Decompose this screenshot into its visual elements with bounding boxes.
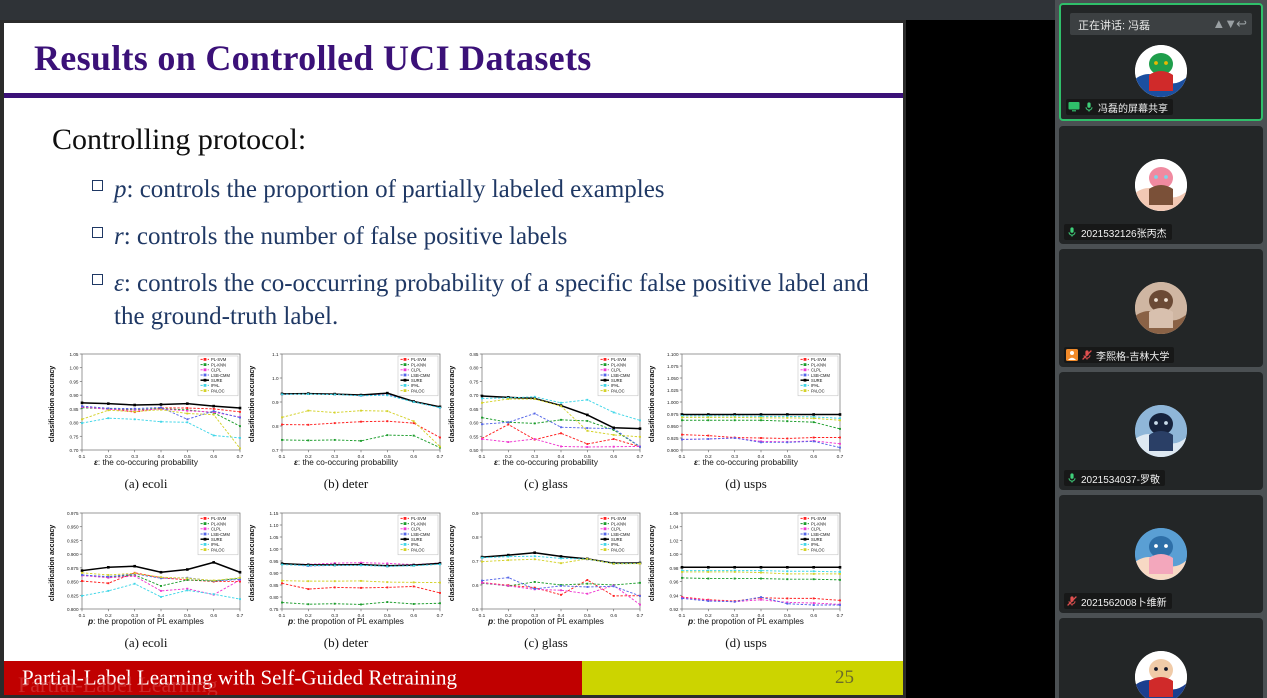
participant-tile[interactable]: 正在讲话: 冯磊▲▼↩冯磊的屏幕共享 bbox=[1059, 3, 1263, 121]
svg-text:0.900: 0.900 bbox=[67, 552, 79, 557]
svg-text:0.8: 0.8 bbox=[272, 424, 279, 429]
svg-text:1.075: 1.075 bbox=[667, 364, 679, 369]
avatar bbox=[1135, 282, 1187, 334]
participant-name: 2021532126张丙杰 bbox=[1081, 225, 1167, 240]
page-title: Results on Controlled UCI Datasets bbox=[34, 37, 884, 79]
svg-text:0.75: 0.75 bbox=[470, 379, 479, 384]
svg-text:0.9: 0.9 bbox=[472, 511, 479, 516]
screen-share-icon bbox=[1068, 101, 1080, 113]
figure-cell-eps-usps: classification accuracy0.9000.9250.9500.… bbox=[646, 348, 846, 507]
figure-cell-p-glass: classification accuracy0.50.60.70.80.90.… bbox=[446, 507, 646, 666]
participant-tile[interactable]: 李熙格-吉林大学 bbox=[1059, 249, 1263, 367]
svg-text:0.95: 0.95 bbox=[70, 379, 79, 384]
svg-text:0.92: 0.92 bbox=[670, 607, 679, 612]
screen-root: Results on Controlled UCI Datasets Contr… bbox=[0, 0, 1267, 698]
raise-hand-icon bbox=[1066, 349, 1078, 361]
svg-text:1.06: 1.06 bbox=[670, 511, 679, 516]
svg-text:0.55: 0.55 bbox=[470, 434, 479, 439]
square-bullet-icon bbox=[92, 173, 114, 193]
chart-xlabel: ε: the co-occuring probability bbox=[446, 458, 646, 467]
svg-text:1.04: 1.04 bbox=[670, 525, 679, 530]
svg-text:0.6: 0.6 bbox=[472, 583, 479, 588]
participant-name: 李熙格-吉林大学 bbox=[1096, 348, 1169, 363]
svg-text:0.96: 0.96 bbox=[670, 580, 679, 585]
svg-text:0.80: 0.80 bbox=[270, 595, 279, 600]
speaker-view-controls-icon[interactable]: ▲▼↩ bbox=[1212, 16, 1246, 32]
participant-name-bar: 2021532126张丙杰 bbox=[1064, 224, 1172, 240]
svg-text:1.025: 1.025 bbox=[667, 388, 679, 393]
bullet-body: : controls the number of false positive … bbox=[124, 223, 568, 250]
svg-text:0.7: 0.7 bbox=[472, 559, 479, 564]
svg-text:1.10: 1.10 bbox=[270, 523, 279, 528]
svg-text:0.8: 0.8 bbox=[472, 535, 479, 540]
mic-on-icon bbox=[1066, 472, 1078, 484]
participant-tile[interactable]: 2021532126张丙杰 bbox=[1059, 126, 1263, 244]
figure-cell-eps-deter: classification accuracy0.70.80.91.01.10.… bbox=[246, 348, 446, 507]
participant-name-bar: 2021534037-罗敬 bbox=[1064, 470, 1165, 486]
svg-text:0.875: 0.875 bbox=[67, 566, 79, 571]
participant-tile[interactable]: 2021562008卜维新 bbox=[1059, 495, 1263, 613]
chart-caption: (d) usps bbox=[646, 635, 846, 651]
svg-text:0.70: 0.70 bbox=[70, 448, 79, 453]
participant-name: 2021562008卜维新 bbox=[1081, 594, 1167, 609]
svg-text:0.85: 0.85 bbox=[470, 352, 479, 357]
chart-eps-ecoli: classification accuracy0.700.750.800.850… bbox=[46, 348, 246, 476]
shared-screen-region: Results on Controlled UCI Datasets Contr… bbox=[0, 0, 1055, 698]
chart-p-glass: classification accuracy0.50.60.70.80.90.… bbox=[446, 507, 646, 635]
chart-xlabel: p: the propotion of PL examples bbox=[46, 617, 246, 626]
figure-row: classification accuracy0.8000.8250.8500.… bbox=[46, 507, 846, 666]
svg-text:0.7: 0.7 bbox=[272, 448, 279, 453]
svg-text:0.800: 0.800 bbox=[67, 607, 79, 612]
results-figure-grid: classification accuracy0.700.750.800.850… bbox=[46, 348, 846, 666]
svg-text:PALOC: PALOC bbox=[411, 388, 425, 393]
svg-text:0.850: 0.850 bbox=[67, 580, 79, 585]
svg-text:0.95: 0.95 bbox=[270, 559, 279, 564]
chart-p-deter: classification accuracy0.750.800.850.900… bbox=[246, 507, 446, 635]
figure-cell-p-deter: classification accuracy0.750.800.850.900… bbox=[246, 507, 446, 666]
chart-xlabel: ε: the co-occuring probability bbox=[46, 458, 246, 467]
chart-caption: (a) ecoli bbox=[46, 635, 246, 651]
svg-text:1.000: 1.000 bbox=[667, 400, 679, 405]
bullet-body: : controls the proportion of partially l… bbox=[127, 176, 665, 203]
svg-text:1.100: 1.100 bbox=[667, 352, 679, 357]
participant-name: 冯磊的屏幕共享 bbox=[1098, 100, 1168, 115]
svg-text:PALOC: PALOC bbox=[411, 547, 425, 552]
svg-text:0.85: 0.85 bbox=[70, 407, 79, 412]
shared-screen-topbar bbox=[0, 0, 1055, 20]
bullet-text: r: controls the number of false positive… bbox=[114, 220, 567, 253]
avatar bbox=[1135, 528, 1187, 580]
svg-text:1.00: 1.00 bbox=[270, 547, 279, 552]
svg-text:0.50: 0.50 bbox=[470, 448, 479, 453]
participant-name-bar: 2021562008卜维新 bbox=[1064, 593, 1172, 609]
svg-text:PALOC: PALOC bbox=[811, 547, 825, 552]
avatar bbox=[1135, 405, 1187, 457]
participant-tile[interactable]: 2021534037-罗敬 bbox=[1059, 372, 1263, 490]
chart-caption: (c) glass bbox=[446, 476, 646, 492]
chart-xlabel: ε: the co-occuring probability bbox=[646, 458, 846, 467]
svg-text:1.15: 1.15 bbox=[270, 511, 279, 516]
page-number: 25 bbox=[835, 667, 854, 689]
figure-cell-p-usps: classification accuracy0.920.940.960.981… bbox=[646, 507, 846, 666]
chart-eps-usps: classification accuracy0.9000.9250.9500.… bbox=[646, 348, 846, 476]
participant-name-bar: 冯磊的屏幕共享 bbox=[1066, 99, 1173, 115]
svg-text:0.900: 0.900 bbox=[667, 448, 679, 453]
list-item: ε: controls the co-occurring probability… bbox=[92, 267, 892, 333]
square-bullet-icon bbox=[92, 220, 114, 240]
svg-text:0.90: 0.90 bbox=[270, 571, 279, 576]
participant-name: 2021534037-罗敬 bbox=[1081, 471, 1160, 486]
title-divider bbox=[4, 93, 906, 98]
svg-text:0.94: 0.94 bbox=[670, 593, 679, 598]
chart-eps-deter: classification accuracy0.70.80.91.01.10.… bbox=[246, 348, 446, 476]
protocol-heading: Controlling protocol: bbox=[52, 123, 306, 157]
svg-text:0.60: 0.60 bbox=[470, 421, 479, 426]
svg-text:0.925: 0.925 bbox=[667, 436, 679, 441]
svg-text:PALOC: PALOC bbox=[811, 388, 825, 393]
mic-muted-icon bbox=[1081, 349, 1093, 361]
figure-cell-eps-ecoli: classification accuracy0.700.750.800.850… bbox=[46, 348, 246, 507]
avatar bbox=[1135, 159, 1187, 211]
chart-xlabel: p: the propotion of PL examples bbox=[446, 617, 646, 626]
svg-text:0.950: 0.950 bbox=[667, 424, 679, 429]
svg-text:0.65: 0.65 bbox=[470, 407, 479, 412]
chart-caption: (a) ecoli bbox=[46, 476, 246, 492]
svg-text:0.98: 0.98 bbox=[670, 566, 679, 571]
svg-text:PALOC: PALOC bbox=[611, 547, 625, 552]
figure-row: classification accuracy0.700.750.800.850… bbox=[46, 348, 846, 507]
svg-text:0.75: 0.75 bbox=[70, 434, 79, 439]
svg-text:0.75: 0.75 bbox=[270, 607, 279, 612]
svg-text:1.05: 1.05 bbox=[70, 352, 79, 357]
bullet-list: p: controls the proportion of partially … bbox=[92, 173, 892, 347]
svg-text:1.05: 1.05 bbox=[270, 535, 279, 540]
svg-text:1.0: 1.0 bbox=[272, 376, 279, 381]
svg-text:1.00: 1.00 bbox=[70, 366, 79, 371]
list-item: r: controls the number of false positive… bbox=[92, 220, 892, 253]
active-speaker-label: 正在讲话: 冯磊 bbox=[1078, 17, 1150, 33]
svg-text:0.90: 0.90 bbox=[70, 393, 79, 398]
svg-text:1.00: 1.00 bbox=[670, 552, 679, 557]
figure-cell-p-ecoli: classification accuracy0.8000.8250.8500.… bbox=[46, 507, 246, 666]
svg-text:1.1: 1.1 bbox=[272, 352, 279, 357]
chart-caption: (b) deter bbox=[246, 476, 446, 492]
chart-p-ecoli: classification accuracy0.8000.8250.8500.… bbox=[46, 507, 246, 635]
chart-xlabel: ε: the co-occuring probability bbox=[246, 458, 446, 467]
bullet-text: p: controls the proportion of partially … bbox=[114, 173, 665, 206]
avatar bbox=[1135, 45, 1187, 97]
svg-text:1.02: 1.02 bbox=[670, 538, 679, 543]
svg-text:0.925: 0.925 bbox=[67, 538, 79, 543]
bullet-body: : controls the co-occurring probability … bbox=[114, 270, 869, 330]
participant-name-bar: 李熙格-吉林大学 bbox=[1064, 347, 1174, 363]
square-bullet-icon bbox=[92, 267, 114, 287]
chart-caption: (c) glass bbox=[446, 635, 646, 651]
svg-text:0.70: 0.70 bbox=[470, 393, 479, 398]
svg-text:0.85: 0.85 bbox=[270, 583, 279, 588]
watermark-text: Partial-Label Learning bbox=[18, 672, 218, 698]
svg-text:1.050: 1.050 bbox=[667, 376, 679, 381]
footer-page-bar: 25 bbox=[582, 661, 906, 695]
figure-cell-eps-glass: classification accuracy0.500.550.600.650… bbox=[446, 348, 646, 507]
svg-text:PALOC: PALOC bbox=[611, 388, 625, 393]
chart-caption: (d) usps bbox=[646, 476, 846, 492]
bullet-symbol: r bbox=[114, 223, 124, 250]
svg-text:0.975: 0.975 bbox=[667, 412, 679, 417]
chart-xlabel: p: the propotion of PL examples bbox=[246, 617, 446, 626]
svg-text:0.825: 0.825 bbox=[67, 593, 79, 598]
svg-text:PALOC: PALOC bbox=[211, 547, 225, 552]
active-speaker-banner: 正在讲话: 冯磊▲▼↩ bbox=[1070, 13, 1252, 35]
bullet-symbol: p bbox=[114, 176, 127, 203]
mic-on-icon bbox=[1083, 101, 1095, 113]
list-item: p: controls the proportion of partially … bbox=[92, 173, 892, 206]
svg-text:0.5: 0.5 bbox=[472, 607, 479, 612]
mic-muted-icon bbox=[1066, 595, 1078, 607]
svg-text:0.80: 0.80 bbox=[470, 366, 479, 371]
mic-on-icon bbox=[1066, 226, 1078, 238]
bullet-symbol: ε bbox=[114, 270, 124, 297]
chart-caption: (b) deter bbox=[246, 635, 446, 651]
bullet-text: ε: controls the co-occurring probability… bbox=[114, 267, 892, 333]
presentation-slide: Results on Controlled UCI Datasets Contr… bbox=[0, 20, 906, 698]
avatar bbox=[1135, 651, 1187, 698]
svg-text:0.975: 0.975 bbox=[67, 511, 79, 516]
svg-text:0.9: 0.9 bbox=[272, 400, 279, 405]
chart-p-usps: classification accuracy0.920.940.960.981… bbox=[646, 507, 846, 635]
svg-text:0.950: 0.950 bbox=[67, 525, 79, 530]
svg-text:0.80: 0.80 bbox=[70, 421, 79, 426]
participant-tile[interactable] bbox=[1059, 618, 1263, 698]
video-participants-sidebar[interactable]: 正在讲话: 冯磊▲▼↩冯磊的屏幕共享2021532126张丙杰李熙格-吉林大学2… bbox=[1055, 0, 1267, 698]
svg-text:PALOC: PALOC bbox=[211, 388, 225, 393]
chart-xlabel: p: the propotion of PL examples bbox=[646, 617, 846, 626]
chart-eps-glass: classification accuracy0.500.550.600.650… bbox=[446, 348, 646, 476]
